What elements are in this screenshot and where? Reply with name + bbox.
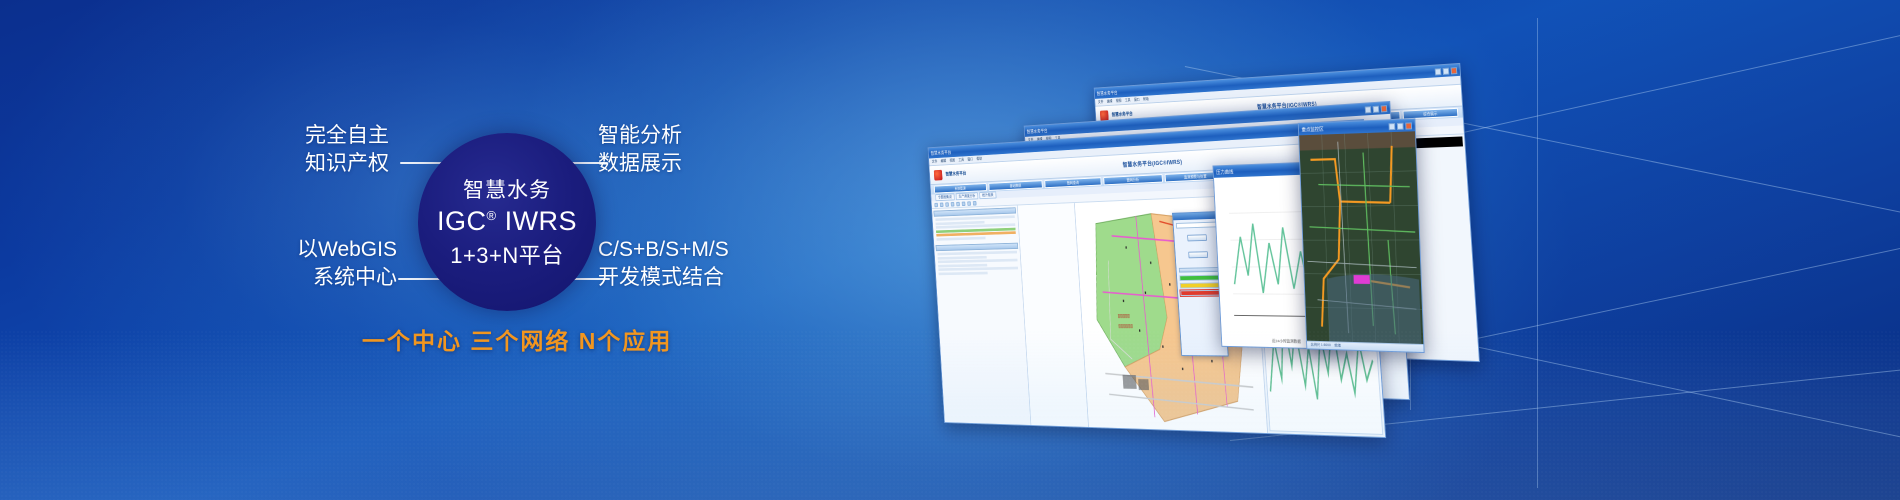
window-controls[interactable] <box>1365 105 1388 113</box>
hub-igc-text: IGC <box>437 206 487 236</box>
menu-item-view[interactable]: 视图 <box>949 158 955 164</box>
label-bottom-left-line2: 系统中心 <box>297 264 397 292</box>
maximize-icon[interactable] <box>1443 67 1450 74</box>
window-title: 智慧水务平台 <box>1027 127 1048 134</box>
open-icon[interactable] <box>934 202 938 206</box>
label-top-left: 完全自主 知识产权 <box>305 122 389 177</box>
dialog-row[interactable] <box>1179 275 1220 281</box>
brand-label: 智慧水务平台 <box>945 170 966 177</box>
status-coords: 坐标 X:1120 Y:3480 <box>966 425 988 430</box>
dialog-row[interactable] <box>1180 282 1221 288</box>
maximize-icon[interactable] <box>1397 122 1404 129</box>
hub-english-title: IGC® IWRS <box>437 207 577 235</box>
pan-icon[interactable] <box>962 201 966 205</box>
zoom-out-icon[interactable] <box>956 201 960 205</box>
attribute-row <box>937 251 1016 256</box>
label-bottom-right: C/S+B/S+M/S 开发模式结合 <box>598 236 729 291</box>
window-title: 智慧水务平台 <box>931 149 952 156</box>
menu-item-tools[interactable]: 工具 <box>958 157 964 163</box>
close-icon[interactable] <box>1451 67 1458 74</box>
hub-subtitle: 1+3+N平台 <box>450 238 564 270</box>
window-controls[interactable] <box>1435 67 1458 75</box>
measure-icon[interactable] <box>973 201 977 206</box>
label-top-right-line2: 数据展示 <box>598 150 682 178</box>
menu-item-file[interactable]: 文件 <box>1098 99 1104 105</box>
attribute-panel-header <box>936 243 1018 251</box>
color-swatch-green[interactable] <box>1179 275 1220 281</box>
minimize-icon[interactable] <box>1389 123 1396 130</box>
layer-item[interactable] <box>937 237 986 241</box>
window-controls[interactable] <box>1389 122 1413 130</box>
map-annotation-text: ▨▨▨▨▨ <box>1117 313 1129 319</box>
hub-chinese-title: 智慧水务 <box>463 174 551 204</box>
status-ready: 就绪 <box>1334 343 1341 348</box>
maximize-icon[interactable] <box>1373 105 1380 112</box>
dialog-confirm-button[interactable] <box>1187 234 1207 241</box>
satellite-svg <box>1299 131 1423 344</box>
label-top-right-line1: 智能分析 <box>598 124 682 147</box>
menu-item-file[interactable]: 文件 <box>932 159 938 164</box>
tree-item[interactable] <box>1019 205 1072 207</box>
sub-tab-2[interactable]: 统计报表 <box>979 191 996 199</box>
tree-item[interactable] <box>1019 205 1072 207</box>
dialog-row-selected[interactable] <box>1180 290 1221 296</box>
sub-tab-0[interactable]: 专题图集成 <box>935 193 954 201</box>
label-bottom-left: 以WebGIS 系统中心 <box>297 236 397 291</box>
dialog-cancel-button[interactable] <box>1188 251 1208 258</box>
layer-panel[interactable] <box>932 205 1031 425</box>
grid-line-corner-vertical <box>1537 18 1538 488</box>
brand-label: 智慧水务平台 <box>1112 111 1133 118</box>
select-icon[interactable] <box>967 201 971 206</box>
label-top-left-line1: 完全自主 <box>305 124 389 147</box>
window-title: 重点监控区 <box>1301 125 1323 133</box>
registered-mark-icon: ® <box>486 208 496 223</box>
status-scale: 比例尺 1:5000 <box>948 424 964 429</box>
sub-tab-1[interactable]: 生产调度分析 <box>956 192 979 200</box>
app-window-satellite[interactable]: 重点监控区 <box>1298 118 1425 353</box>
close-icon[interactable] <box>1381 105 1388 112</box>
attribute-row <box>939 272 988 276</box>
hub-iwrs-text: IWRS <box>505 206 578 236</box>
dialog-table-header <box>1179 267 1220 272</box>
grid-line-ceiling-b <box>1400 33 1900 147</box>
menu-item-window[interactable]: 窗口 <box>1134 97 1140 103</box>
attribute-row <box>938 264 987 268</box>
menu-item-view[interactable]: 视图 <box>1116 98 1122 104</box>
tree-item[interactable] <box>1019 205 1072 207</box>
menu-item-window[interactable]: 窗口 <box>967 157 973 163</box>
status-scale: 比例尺 1:5000 <box>1311 343 1331 348</box>
dialog-dropdown[interactable] <box>1176 221 1217 228</box>
print-icon[interactable] <box>945 202 949 206</box>
tree-item[interactable] <box>1019 205 1072 207</box>
tagline: 一个中心 三个网络 N个应用 <box>362 322 672 356</box>
menu-item-help[interactable]: 帮助 <box>1143 96 1149 102</box>
attribute-row <box>938 267 1018 271</box>
minimize-icon[interactable] <box>1435 68 1442 75</box>
close-icon[interactable] <box>1405 122 1412 129</box>
banner-stage: 智慧水务平台 文件 编辑 视图 工具 窗口 帮助 智慧水务平台 智慧水务平台(I… <box>0 0 1900 500</box>
attribute-row <box>938 259 1017 263</box>
map-annotation-text: ▨▨▨▨▨▨ <box>1118 323 1133 329</box>
color-swatch-red[interactable] <box>1180 290 1221 296</box>
label-bottom-left-line1: 以WebGIS <box>297 238 397 261</box>
menu-item-help[interactable]: 帮助 <box>976 156 982 162</box>
status-ready: 就绪 <box>991 425 996 430</box>
window-title: 压力曲线 <box>1216 168 1233 175</box>
minimize-icon[interactable] <box>1365 106 1372 113</box>
label-bottom-right-line2: 开发模式结合 <box>598 264 729 292</box>
satellite-canvas[interactable] <box>1299 131 1423 344</box>
flame-logo-icon <box>934 169 943 180</box>
tree-item[interactable] <box>1019 205 1072 207</box>
tree-item[interactable] <box>1019 205 1072 207</box>
tree-item[interactable] <box>1019 205 1072 207</box>
menu-item-edit[interactable]: 编辑 <box>941 158 947 163</box>
tree-item[interactable] <box>1019 205 1072 207</box>
hub-circle: 智慧水务 IGC® IWRS 1+3+N平台 <box>418 133 596 311</box>
color-swatch-yellow[interactable] <box>1180 282 1221 288</box>
save-icon[interactable] <box>940 202 944 206</box>
menu-item-tools[interactable]: 工具 <box>1125 98 1131 104</box>
label-bottom-right-line1: C/S+B/S+M/S <box>598 238 729 261</box>
menu-item-edit[interactable]: 编辑 <box>1107 99 1113 105</box>
label-top-left-line2: 知识产权 <box>305 150 389 178</box>
window-title: 智慧水务平台 <box>1097 89 1118 96</box>
zoom-in-icon[interactable] <box>951 202 955 206</box>
label-top-right: 智能分析 数据展示 <box>598 122 682 177</box>
